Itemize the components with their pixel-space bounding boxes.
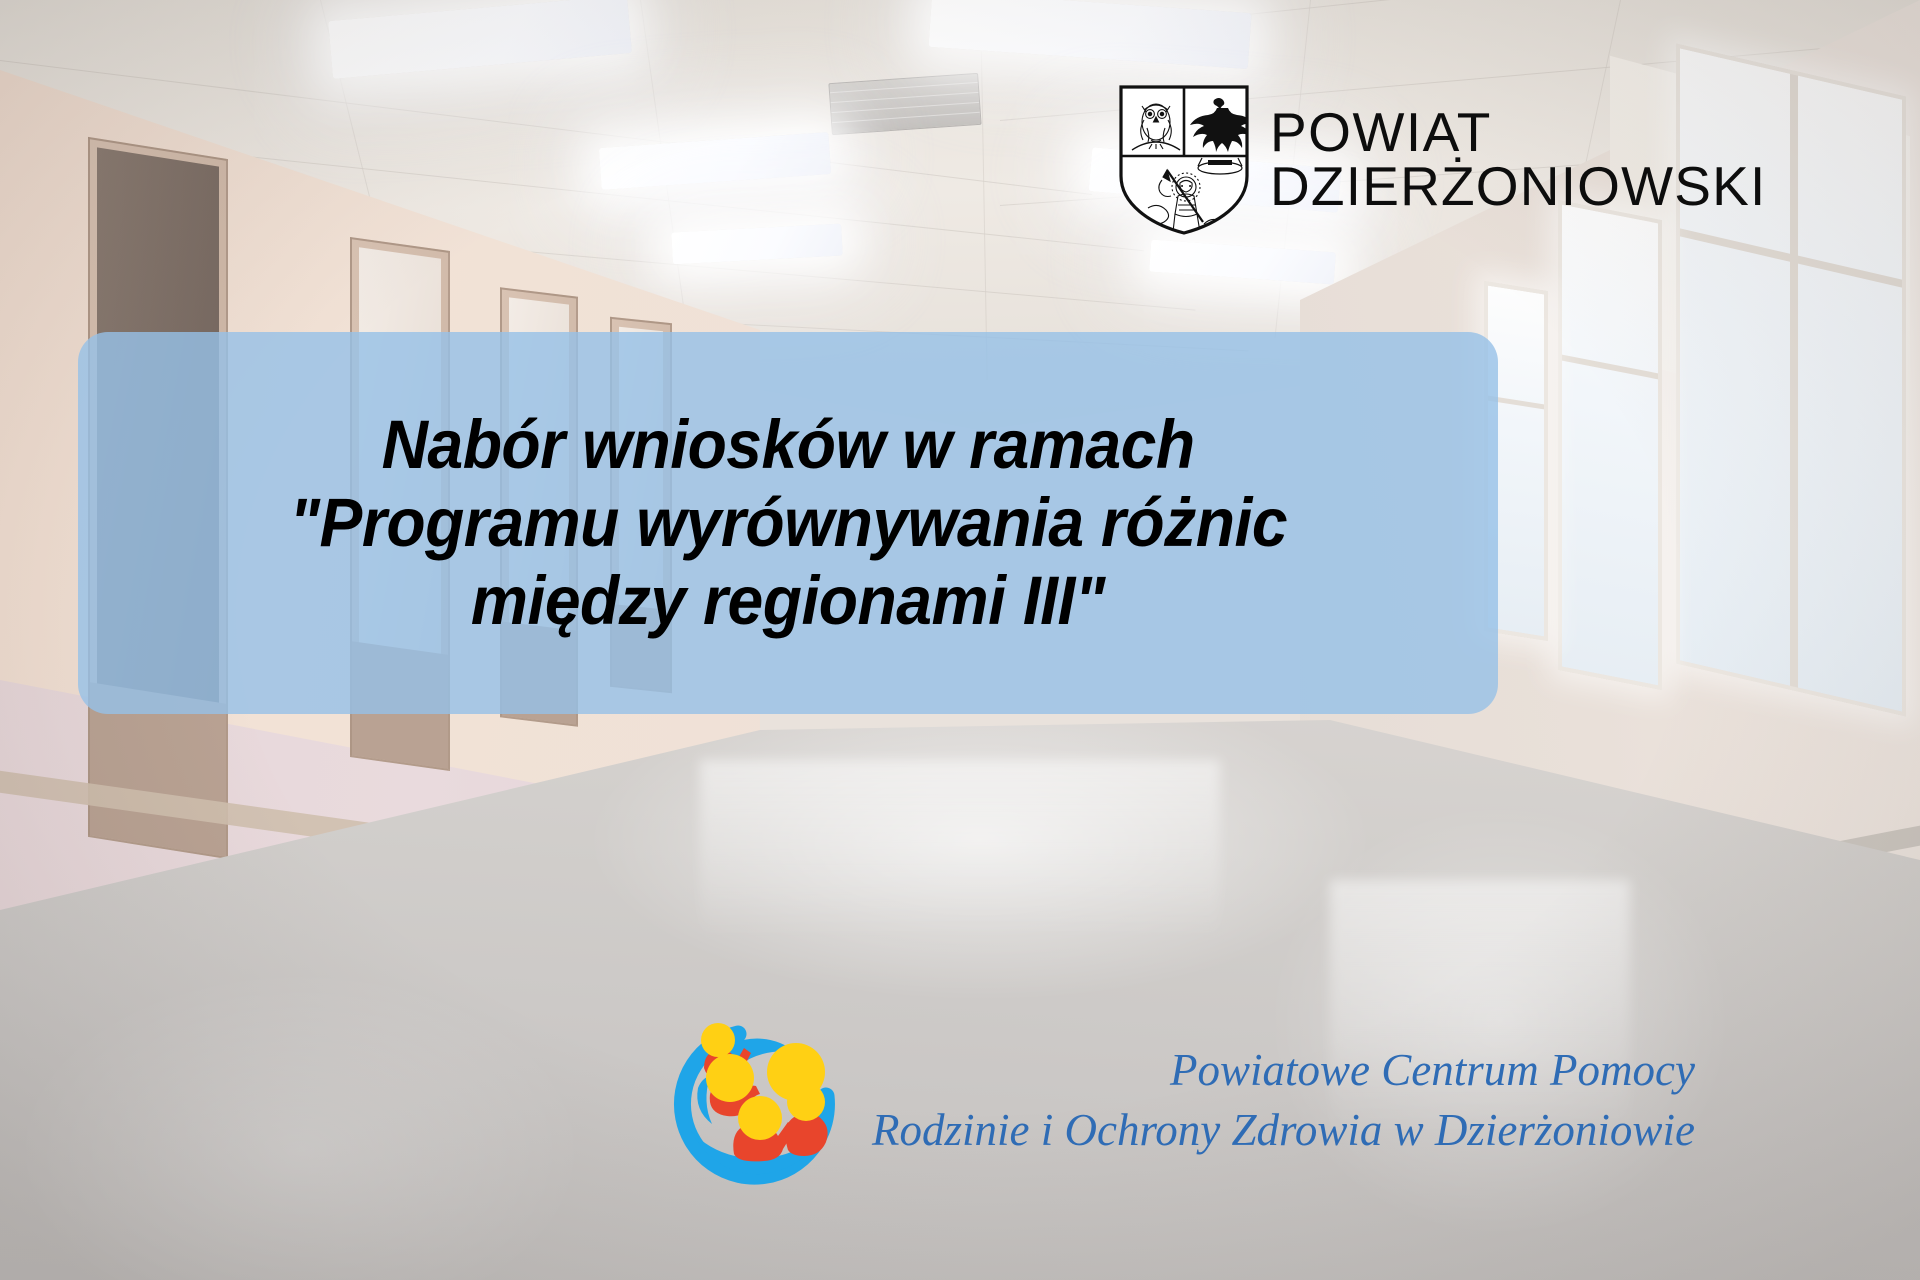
pcpr-line-1: Powiatowe Centrum Pomocy [872,1040,1695,1100]
headline-line-1: Nabór wniosków w ramach [381,406,1194,484]
coat-of-arms-icon [1118,84,1250,236]
pcpr-wordmark: Powiatowe Centrum Pomocy Rodzinie i Ochr… [872,1040,1695,1161]
powiat-line-2: DZIERŻONIOWSKI [1270,160,1767,214]
headline-line-3: między regionami III" [471,562,1105,640]
powiat-logo-wordmark: POWIAT DZIERŻONIOWSKI [1270,106,1767,214]
powiat-dzierzoniowski-logo: POWIAT DZIERŻONIOWSKI [1118,84,1767,236]
headline-line-2: "Programu wyrównywania różnic [289,484,1287,562]
pcpr-logo: Powiatowe Centrum Pomocy Rodzinie i Ochr… [660,1010,1695,1190]
pcpr-people-circle-icon [660,1010,850,1190]
powiat-line-1: POWIAT [1270,106,1767,160]
headline-panel: Nabór wniosków w ramach "Programu wyrówn… [78,332,1498,714]
pcpr-line-2: Rodzinie i Ochrony Zdrowia w Dzierżoniow… [872,1100,1695,1160]
poster-canvas: POWIAT DZIERŻONIOWSKI Nabór wniosków w r… [0,0,1920,1280]
